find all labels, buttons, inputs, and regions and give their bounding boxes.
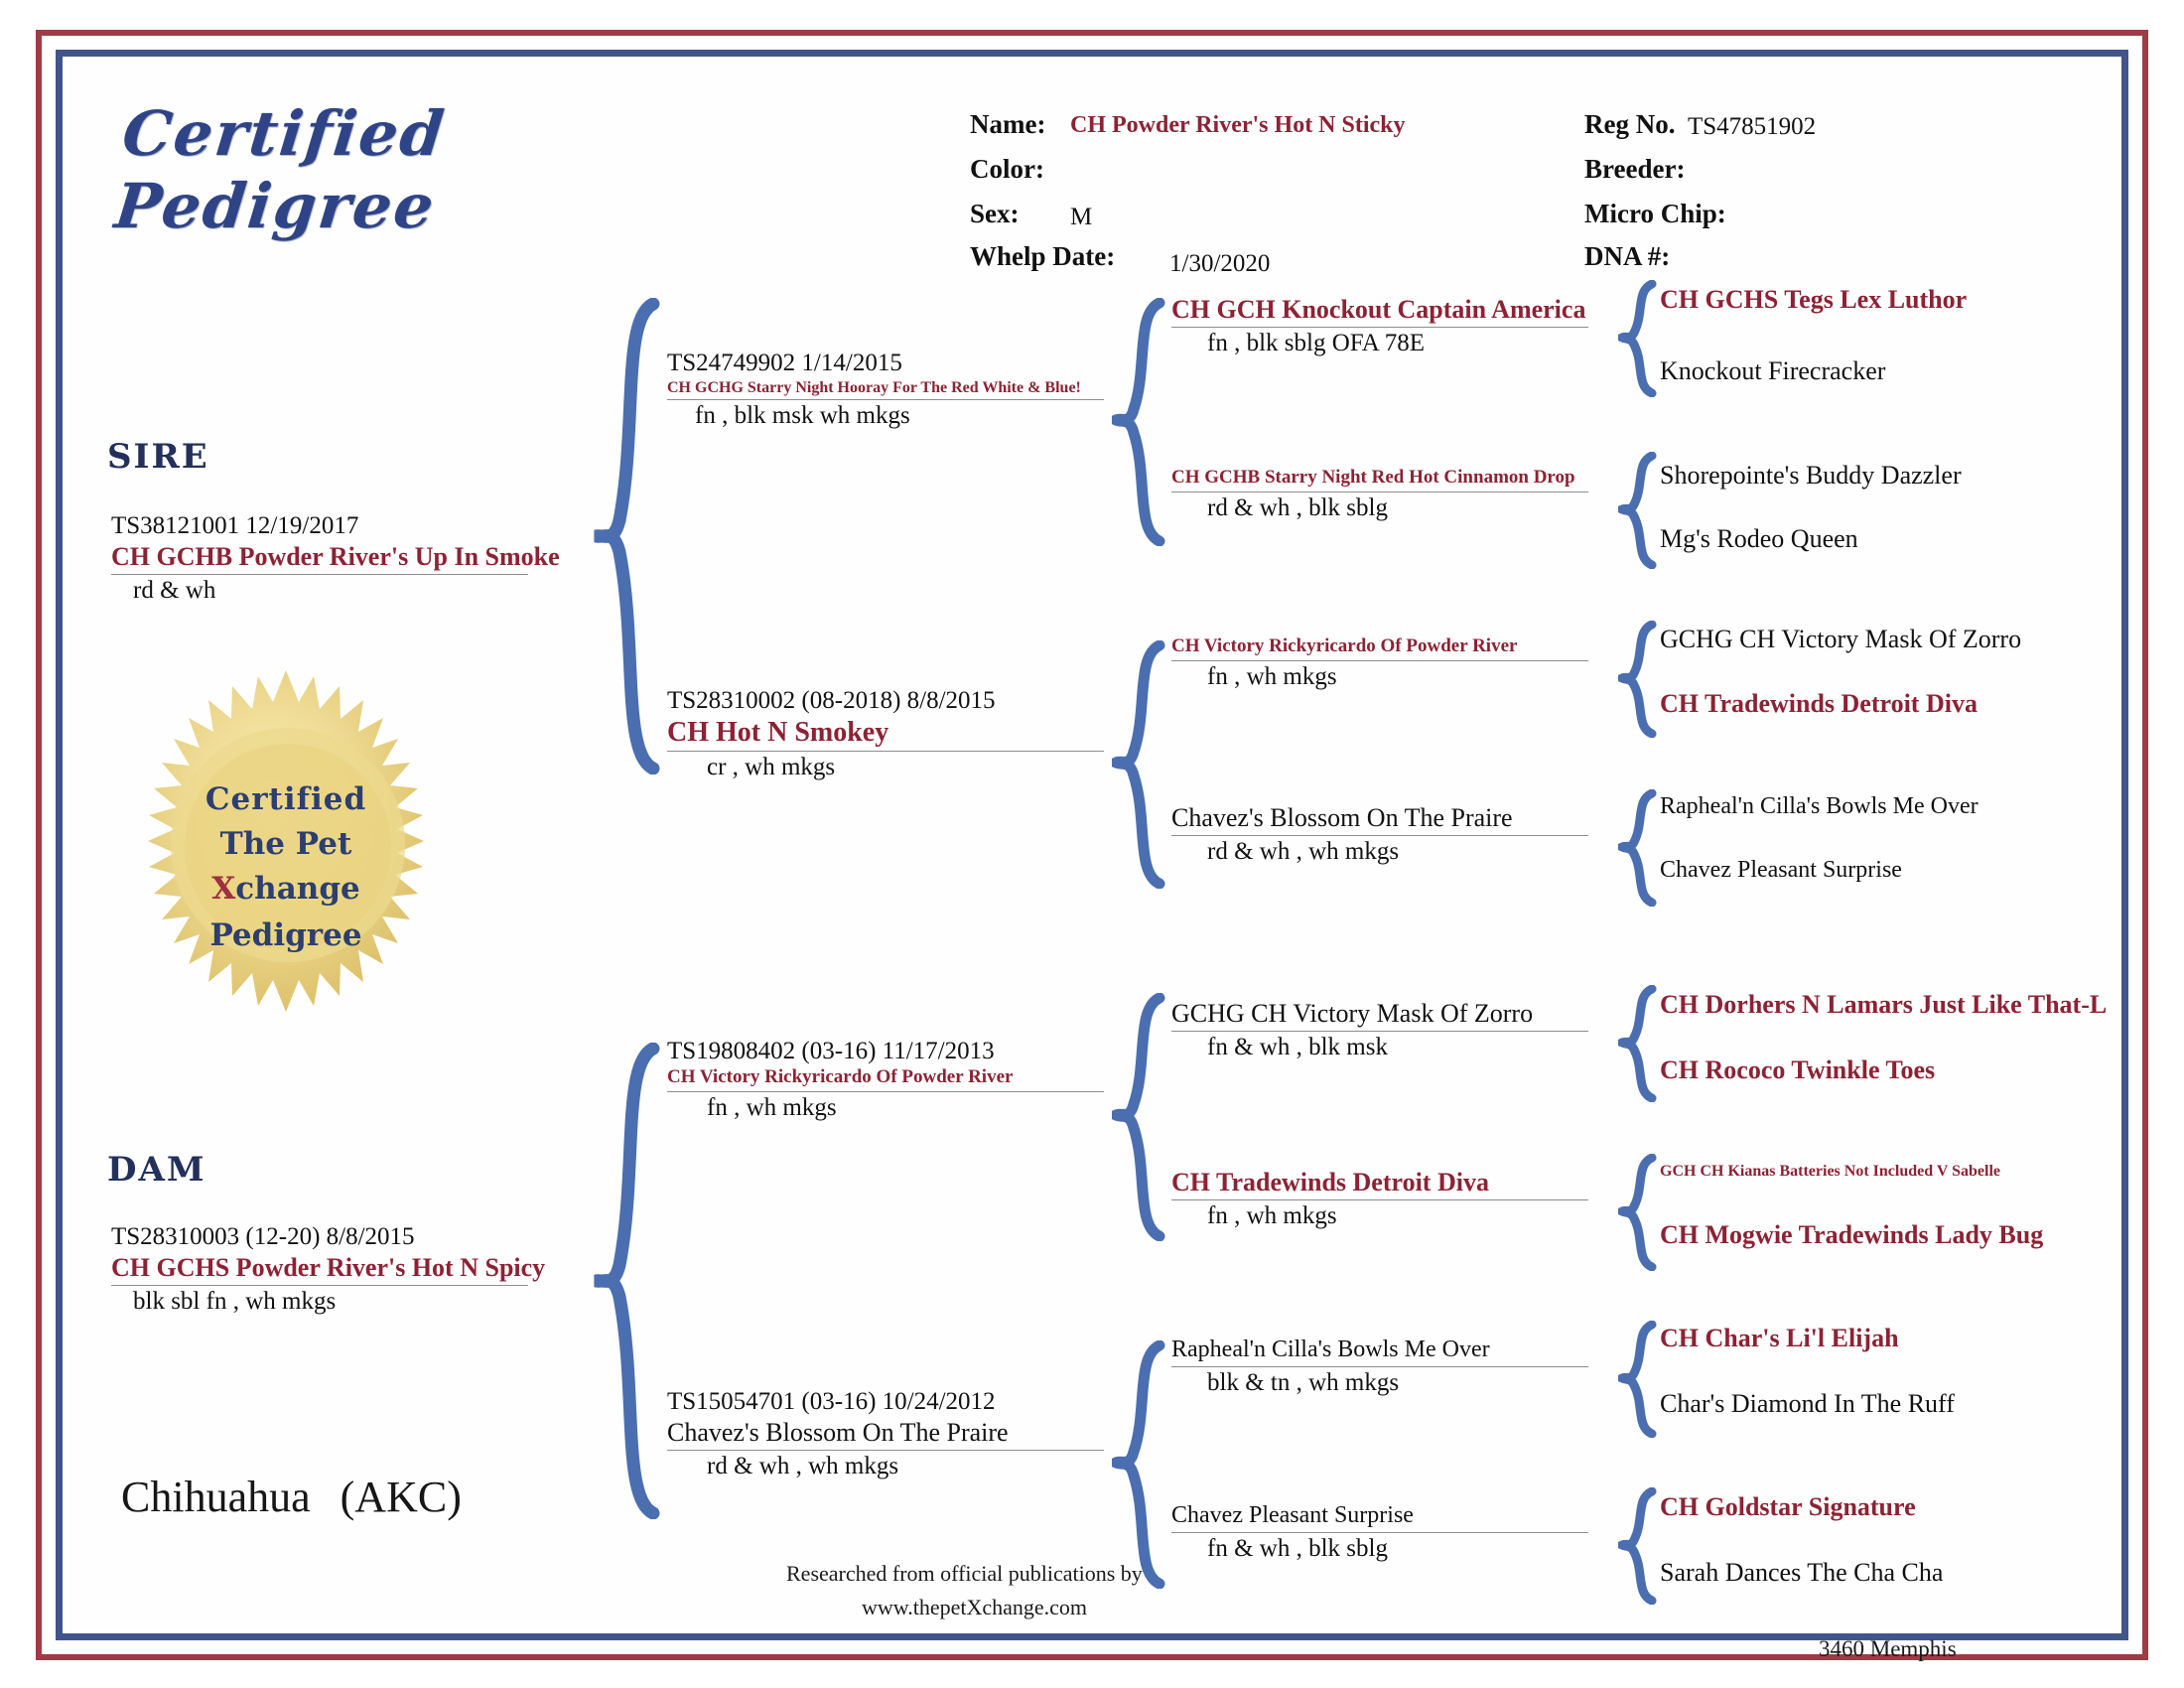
gen3-entry: CH Tradewinds Detroit Diva fn , wh mkgs bbox=[1171, 1167, 1588, 1231]
brace-gen2-c bbox=[1112, 993, 1167, 1241]
gen4-name: Rapheal'n Cilla's Bowls Me Over bbox=[1660, 792, 1979, 821]
whelp-date-value: 1/30/2020 bbox=[1169, 250, 1270, 278]
gen4-name: CH Goldstar Signature bbox=[1660, 1491, 1916, 1522]
gen3-entry: Chavez Pleasant Surprise fn & wh , blk s… bbox=[1171, 1501, 1588, 1564]
gen2-reg-number: TS15054701 (03-16) 10/24/2012 bbox=[667, 1388, 1104, 1417]
page-title: Certified Pedigree bbox=[111, 97, 781, 242]
gen3-description: fn & wh , blk msk bbox=[1171, 1032, 1588, 1062]
certification-seal: Certified The Pet Xchange Pedigree bbox=[117, 667, 455, 1015]
brace-gen3-6 bbox=[1618, 1154, 1658, 1271]
gen4-entry: CH Mogwie Tradewinds Lady Bug bbox=[1660, 1219, 2043, 1250]
gen2-reg-number: TS19808402 (03-16) 11/17/2013 bbox=[667, 1038, 1104, 1066]
gen4-name: Mg's Rodeo Queen bbox=[1660, 523, 1858, 554]
dam-name: CH GCHS Powder River's Hot N Spicy bbox=[111, 1252, 528, 1283]
gen4-entry: Mg's Rodeo Queen bbox=[1660, 523, 1858, 554]
gen3-description: fn & wh , blk sblg bbox=[1171, 1533, 1588, 1564]
gen4-entry: CH Dorhers N Lamars Just Like That-L bbox=[1660, 989, 2107, 1020]
brace-dam-gen1 bbox=[592, 1043, 663, 1519]
gen3-name: Chavez's Blossom On The Praire bbox=[1171, 802, 1588, 833]
gen4-name: CH Dorhers N Lamars Just Like That-L bbox=[1660, 989, 2107, 1020]
gen4-entry: Knockout Firecracker bbox=[1660, 355, 1885, 386]
gen3-name: Chavez Pleasant Surprise bbox=[1171, 1501, 1588, 1530]
sire-description: rd & wh bbox=[111, 575, 528, 606]
gen2-entry: TS28310002 (08-2018) 8/8/2015 CH Hot N S… bbox=[667, 687, 1104, 783]
gen2-name: CH GCHG Starry Night Hooray For The Red … bbox=[667, 378, 1104, 397]
breed-name: Chihuahua bbox=[121, 1473, 311, 1521]
gen3-description: fn , blk sblg OFA 78E bbox=[1171, 328, 1588, 358]
sire-entry: TS38121001 12/19/2017 CH GCHB Powder Riv… bbox=[111, 512, 528, 606]
gen2-entry: TS19808402 (03-16) 11/17/2013 CH Victory… bbox=[667, 1038, 1104, 1123]
dna-label: DNA #: bbox=[1584, 241, 1670, 272]
gen3-description: fn , wh mkgs bbox=[1171, 1200, 1588, 1231]
gen2-entry: TS15054701 (03-16) 10/24/2012 Chavez's B… bbox=[667, 1388, 1104, 1481]
gen3-name: CH Victory Rickyricardo Of Powder River bbox=[1171, 635, 1588, 658]
breed-line: Chihuahua(AKC) bbox=[121, 1472, 462, 1522]
breeder-label: Breeder: bbox=[1584, 154, 1685, 185]
gen4-name: Char's Diamond In The Ruff bbox=[1660, 1388, 1955, 1419]
brace-gen3-3 bbox=[1618, 621, 1658, 738]
gen2-description: rd & wh , wh mkgs bbox=[667, 1451, 1104, 1481]
gen4-entry: CH Char's Li'l Elijah bbox=[1660, 1323, 1899, 1353]
gen2-description: cr , wh mkgs bbox=[667, 752, 1104, 782]
gen4-entry: Sarah Dances The Cha Cha bbox=[1660, 1557, 1943, 1588]
gen3-name: GCHG CH Victory Mask Of Zorro bbox=[1171, 998, 1588, 1029]
registry-name: (AKC) bbox=[341, 1473, 462, 1521]
gen4-name: Shorepointe's Buddy Dazzler bbox=[1660, 460, 1962, 491]
gen3-name: CH GCHB Starry Night Red Hot Cinnamon Dr… bbox=[1171, 467, 1588, 490]
dam-description: blk sbl fn , wh mkgs bbox=[111, 1286, 528, 1317]
seal-starburst-icon bbox=[117, 667, 455, 1015]
gen4-entry: Char's Diamond In The Ruff bbox=[1660, 1388, 1955, 1419]
gen2-name: Chavez's Blossom On The Praire bbox=[667, 1417, 1104, 1448]
gen3-name: Rapheal'n Cilla's Bowls Me Over bbox=[1171, 1336, 1588, 1364]
gen4-entry: Chavez Pleasant Surprise bbox=[1660, 856, 1902, 885]
gen4-entry: GCHG CH Victory Mask Of Zorro bbox=[1660, 624, 2021, 654]
footer-code: 3460 Memphis bbox=[1819, 1636, 1957, 1662]
gen4-name: GCHG CH Victory Mask Of Zorro bbox=[1660, 624, 2021, 654]
gen4-name: CH Mogwie Tradewinds Lady Bug bbox=[1660, 1219, 2043, 1250]
brace-gen2-b bbox=[1112, 640, 1167, 889]
gen2-reg-number: TS24749902 1/14/2015 bbox=[667, 350, 1104, 378]
gen3-description: rd & wh , blk sblg bbox=[1171, 492, 1588, 523]
gen4-entry: CH Goldstar Signature bbox=[1660, 1491, 1916, 1522]
brace-gen3-5 bbox=[1618, 985, 1658, 1102]
gen3-description: fn , wh mkgs bbox=[1171, 661, 1588, 692]
gen4-entry: CH GCHS Tegs Lex Luthor bbox=[1660, 284, 1967, 315]
sire-reg-number: TS38121001 12/19/2017 bbox=[111, 512, 528, 541]
brace-sire-gen1 bbox=[592, 298, 663, 774]
gen3-description: rd & wh , wh mkgs bbox=[1171, 836, 1588, 867]
gen3-description: blk & tn , wh mkgs bbox=[1171, 1367, 1588, 1398]
gen4-entry: CH Rococo Twinkle Toes bbox=[1660, 1055, 1935, 1085]
gen4-entry: GCH CH Kianas Batteries Not Included V S… bbox=[1660, 1162, 2000, 1181]
gen2-name: CH Victory Rickyricardo Of Powder River bbox=[667, 1066, 1104, 1089]
gen4-name: Knockout Firecracker bbox=[1660, 355, 1885, 386]
footer-researched-text: Researched from official publications by bbox=[786, 1561, 1143, 1587]
gen3-name: CH Tradewinds Detroit Diva bbox=[1171, 1167, 1588, 1197]
brace-gen3-8 bbox=[1618, 1487, 1658, 1605]
sex-label: Sex: bbox=[970, 199, 1020, 229]
footer-url[interactable]: www.thepetXchange.com bbox=[862, 1595, 1087, 1620]
gen2-entry: TS24749902 1/14/2015 CH GCHG Starry Nigh… bbox=[667, 350, 1104, 431]
whelp-date-label: Whelp Date: bbox=[970, 241, 1115, 272]
gen2-description: fn , wh mkgs bbox=[667, 1092, 1104, 1123]
gen4-name: CH Char's Li'l Elijah bbox=[1660, 1323, 1899, 1353]
gen4-name: Sarah Dances The Cha Cha bbox=[1660, 1557, 1943, 1588]
gen4-name: CH Tradewinds Detroit Diva bbox=[1660, 688, 1978, 719]
gen2-reg-number: TS28310002 (08-2018) 8/8/2015 bbox=[667, 687, 1104, 716]
brace-gen3-7 bbox=[1618, 1321, 1658, 1438]
brace-gen2-d bbox=[1112, 1340, 1167, 1589]
name-label: Name: bbox=[970, 109, 1045, 140]
gen2-description: fn , blk msk wh mkgs bbox=[667, 400, 1104, 431]
reg-no-label: Reg No. bbox=[1584, 109, 1675, 140]
color-label: Color: bbox=[970, 154, 1044, 185]
dam-heading: DAM bbox=[107, 1150, 206, 1190]
gen4-entry: Rapheal'n Cilla's Bowls Me Over bbox=[1660, 792, 1979, 821]
micro-chip-label: Micro Chip: bbox=[1584, 199, 1726, 229]
dam-reg-number: TS28310003 (12-20) 8/8/2015 bbox=[111, 1223, 528, 1252]
gen3-entry: GCHG CH Victory Mask Of Zorro fn & wh , … bbox=[1171, 998, 1588, 1062]
gen3-entry: Rapheal'n Cilla's Bowls Me Over blk & tn… bbox=[1171, 1336, 1588, 1398]
gen4-name: GCH CH Kianas Batteries Not Included V S… bbox=[1660, 1162, 2000, 1181]
brace-gen3-1 bbox=[1618, 280, 1658, 397]
name-value: CH Powder River's Hot N Sticky bbox=[1070, 112, 1406, 139]
gen3-entry: CH GCHB Starry Night Red Hot Cinnamon Dr… bbox=[1171, 467, 1588, 523]
sex-value: M bbox=[1070, 204, 1092, 231]
sire-name: CH GCHB Powder River's Up In Smoke bbox=[111, 541, 528, 572]
gen3-entry: Chavez's Blossom On The Praire rd & wh ,… bbox=[1171, 802, 1588, 867]
brace-gen3-2 bbox=[1618, 452, 1658, 569]
gen3-entry: CH Victory Rickyricardo Of Powder River … bbox=[1171, 635, 1588, 692]
gen3-name: CH GCH Knockout Captain America bbox=[1171, 294, 1588, 325]
brace-gen2-a bbox=[1112, 298, 1167, 546]
gen3-entry: CH GCH Knockout Captain America fn , blk… bbox=[1171, 294, 1588, 358]
dam-entry: TS28310003 (12-20) 8/8/2015 CH GCHS Powd… bbox=[111, 1223, 528, 1317]
sire-heading: SIRE bbox=[107, 437, 209, 477]
gen4-name: Chavez Pleasant Surprise bbox=[1660, 856, 1902, 885]
gen4-entry: Shorepointe's Buddy Dazzler bbox=[1660, 460, 1962, 491]
brace-gen3-4 bbox=[1618, 789, 1658, 907]
reg-no-value: TS47851902 bbox=[1688, 113, 1816, 141]
gen4-name: CH Rococo Twinkle Toes bbox=[1660, 1055, 1935, 1085]
gen4-name: CH GCHS Tegs Lex Luthor bbox=[1660, 284, 1967, 315]
gen4-entry: CH Tradewinds Detroit Diva bbox=[1660, 688, 1978, 719]
gen2-name: CH Hot N Smokey bbox=[667, 716, 1104, 750]
